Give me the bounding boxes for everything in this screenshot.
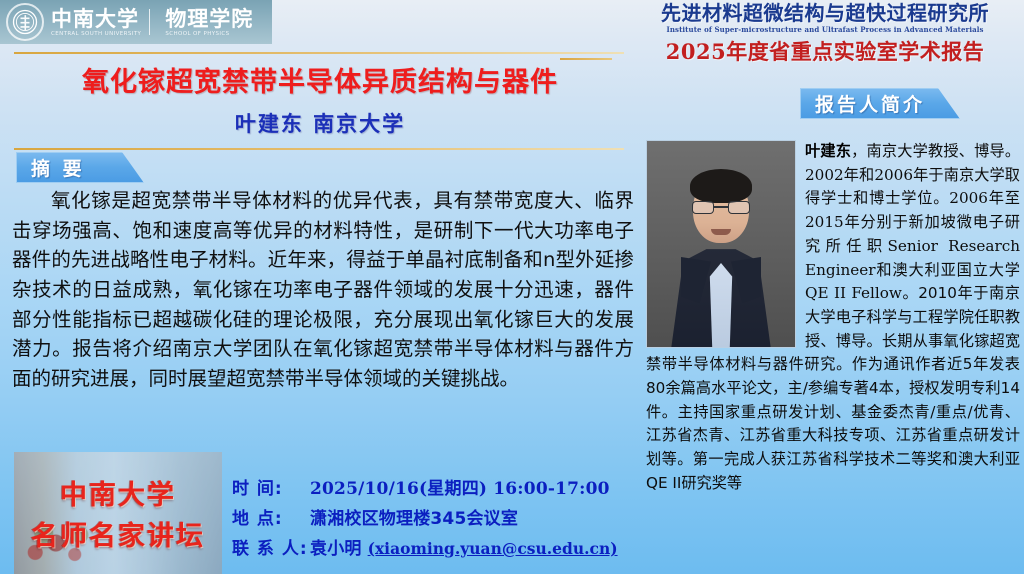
speaker-bio: 叶建东，南京大学教授、博导。2002年和2006年于南京大学取得学士和博士学位。… [646,140,1020,496]
school-name-cn: 物理学院 [165,8,253,29]
event-contact-name: 袁小明 [310,534,362,559]
portrait-mouth [711,229,731,235]
csu-emblem-icon [6,3,44,41]
report-series-line: 2025年度省重点实验室学术报告 [630,36,1020,66]
school-name-block: 物理学院 SCHOOL OF PHYSICS [158,8,253,37]
institute-title-en: Institute of Super-microstructure and Ul… [630,25,1020,34]
title-rule-top [14,52,624,54]
event-time-label: 时 间: [232,474,310,499]
csu-name-block: 中南大学 CENTRAL SOUTH UNIVERSITY [44,8,141,37]
talk-title: 氧化镓超宽禁带半导体异质结构与器件 [0,60,640,99]
contact-email-link[interactable]: (xiaoming.yuan@csu.edu.cn) [368,539,618,558]
forum-logo: 中南大学 名师名家讲坛 [14,452,222,574]
event-place-row: 地 点: 潇湘校区物理楼345会议室 [232,504,618,529]
abstract-banner-label: 摘 要 [31,154,85,181]
abstract-body: 氧化镓是超宽禁带半导体材料的优异代表，具有禁带宽度大、临界击穿场强高、饱和速度高… [12,186,634,393]
forum-logo-line1: 中南大学 [60,473,176,512]
event-time-value: 2025/10/16(星期四) 16:00-17:00 [310,474,610,499]
forum-logo-line2: 名师名家讲坛 [31,514,205,553]
talk-speaker: 叶建东 南京大学 [0,108,640,138]
event-contact-row: 联 系 人: 袁小明 (xiaoming.yuan@csu.edu.cn) [232,534,618,559]
university-logo-bar: 中南大学 CENTRAL SOUTH UNIVERSITY 物理学院 SCHOO… [0,0,272,44]
logo-divider [149,9,150,35]
event-time-row: 时 间: 2025/10/16(星期四) 16:00-17:00 [232,474,618,499]
event-contact-label: 联 系 人: [232,534,310,559]
university-name-cn: 中南大学 [51,8,141,29]
school-name-en: SCHOOL OF PHYSICS [165,31,253,37]
event-place-label: 地 点: [232,504,310,529]
event-details: 时 间: 2025/10/16(星期四) 16:00-17:00 地 点: 潇湘… [232,474,618,564]
speaker-portrait [646,140,796,348]
bio-banner: 报告人简介 [800,88,960,119]
abstract-banner: 摘 要 [16,152,144,183]
bio-text-part1: ，南京大学教授、博导。 [851,142,1020,160]
institute-title-cn: 先进材料超微结构与超快过程研究所 [630,2,1020,24]
title-rule-bottom [14,148,624,150]
forum-logo-text: 中南大学 名师名家讲坛 [14,452,222,574]
portrait-glasses [692,201,750,214]
bio-speaker-name: 叶建东 [805,142,851,160]
portrait-hair [690,169,752,203]
institute-header: 先进材料超微结构与超快过程研究所 Institute of Super-micr… [630,2,1020,66]
bio-banner-label: 报告人简介 [815,90,925,117]
seminar-poster: 中南大学 CENTRAL SOUTH UNIVERSITY 物理学院 SCHOO… [0,0,1024,574]
bio-text-part2: 2002年和2006年于南京大学取得学士和博士学位。2006年至2015年分别于… [805,166,1020,303]
event-place-value: 潇湘校区物理楼345会议室 [310,504,518,529]
university-name-en: CENTRAL SOUTH UNIVERSITY [51,31,141,37]
